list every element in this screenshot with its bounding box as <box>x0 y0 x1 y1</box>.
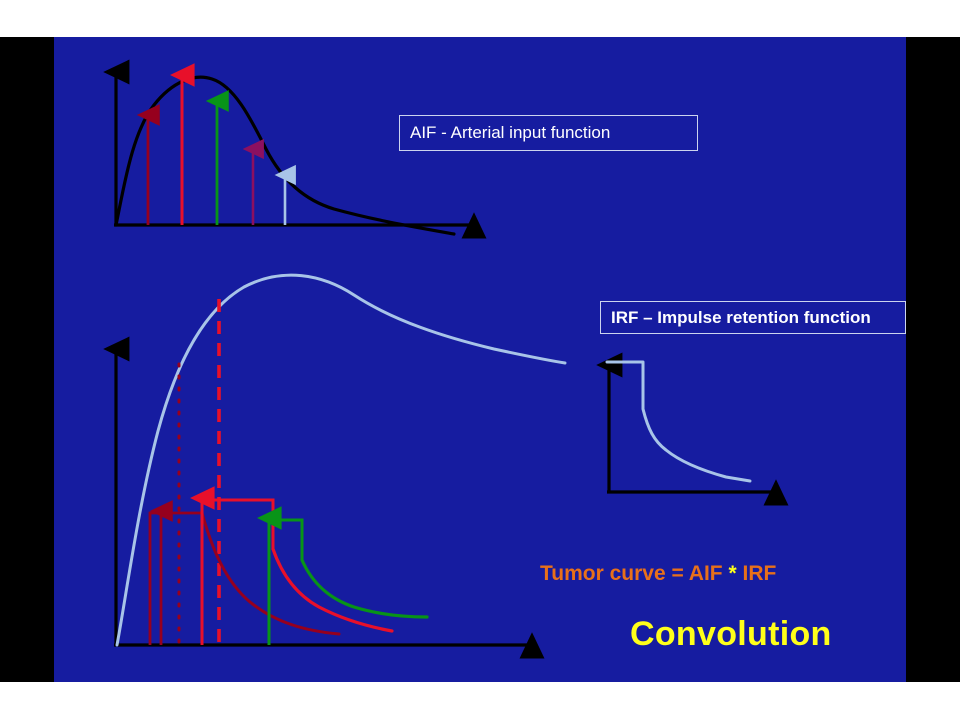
convolution-chart <box>114 275 565 645</box>
irf-label-text: IRF – Impulse retention function <box>611 308 871 328</box>
irf-label-box: IRF – Impulse retention function <box>600 301 906 334</box>
tumor-curve <box>117 275 565 645</box>
irf-curve <box>607 362 750 481</box>
aif-label-text: AIF - Arterial input function <box>410 123 610 143</box>
aif-chart <box>114 72 474 234</box>
slide-canvas: AIF - Arterial input function IRF – Impu… <box>54 37 906 682</box>
response-bright-red-tail <box>273 549 392 631</box>
tumor-formula-prefix: Tumor curve = AIF <box>540 562 728 585</box>
response-bright-red-step <box>202 500 273 645</box>
tumor-formula-suffix: IRF <box>737 562 777 585</box>
response-dark-red-step <box>150 513 202 645</box>
convolution-operator-symbol: * <box>728 562 736 585</box>
slide-root: AIF - Arterial input function IRF – Impu… <box>0 0 960 720</box>
aif-label-box: AIF - Arterial input function <box>399 115 698 151</box>
irf-chart <box>607 362 776 492</box>
tumor-curve-formula: Tumor curve = AIF * IRF <box>540 562 776 586</box>
convolution-title: Convolution <box>630 615 832 654</box>
